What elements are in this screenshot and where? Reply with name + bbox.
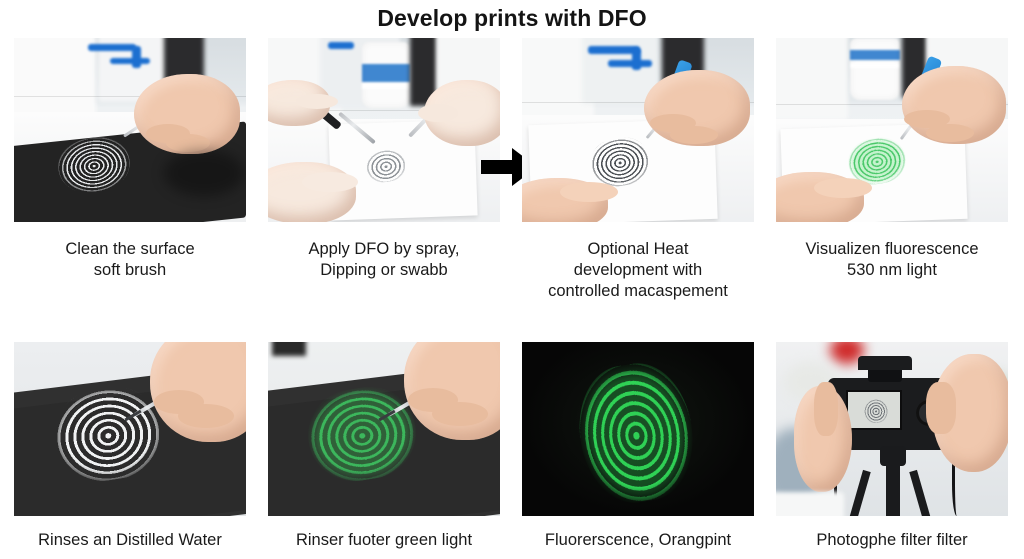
photo-apply-dfo-spray-dipping-swabb: [268, 38, 500, 222]
step-caption-2: Apply DFO by spray, Dipping or swabb: [268, 239, 500, 281]
step-cell-1[interactable]: Clean the surface soft brush: [14, 38, 246, 281]
step-caption-5: Rinses an Distilled Water: [14, 530, 246, 551]
step-cell-7[interactable]: Fluorerscence, Orangpint: [522, 342, 754, 551]
step-cell-3[interactable]: Optional Heat development with controlle…: [522, 38, 754, 302]
step-caption-3: Optional Heat development with controlle…: [522, 239, 754, 302]
step-cell-8[interactable]: Photogphe filter filter: [776, 342, 1008, 551]
figure-root: Develop prints with DFO: [0, 0, 1024, 559]
step-cell-6[interactable]: Rinser fuoter green light: [268, 342, 500, 551]
photo-fluorescence-print: [522, 342, 754, 516]
arrow-shaft: [481, 160, 515, 174]
photo-rinse-distilled-water: [14, 342, 246, 516]
photo-clean-surface-soft-brush: [14, 38, 246, 222]
step-caption-4: Visualizen fluorescence 530 nm light: [776, 239, 1008, 281]
step-cell-2[interactable]: Apply DFO by spray, Dipping or swabb: [268, 38, 500, 281]
step-caption-8: Photogphe filter filter: [776, 530, 1008, 551]
camera-lcd-preview: [846, 390, 902, 430]
page-title: Develop prints with DFO: [0, 5, 1024, 32]
step-cell-5[interactable]: Rinses an Distilled Water: [14, 342, 246, 551]
step-cell-4[interactable]: Visualizen fluorescence 530 nm light: [776, 38, 1008, 281]
step-caption-1: Clean the surface soft brush: [14, 239, 246, 281]
photo-optional-heat-development: [522, 38, 754, 222]
step-caption-6: Rinser fuoter green light: [268, 530, 500, 551]
photo-photograph-with-filter: [776, 342, 1008, 516]
photo-rinse-under-green-light: [268, 342, 500, 516]
step-caption-7: Fluorerscence, Orangpint: [522, 530, 754, 551]
photo-visualize-fluorescence-530nm: [776, 38, 1008, 222]
fingerprint-on-lcd: [862, 397, 889, 424]
